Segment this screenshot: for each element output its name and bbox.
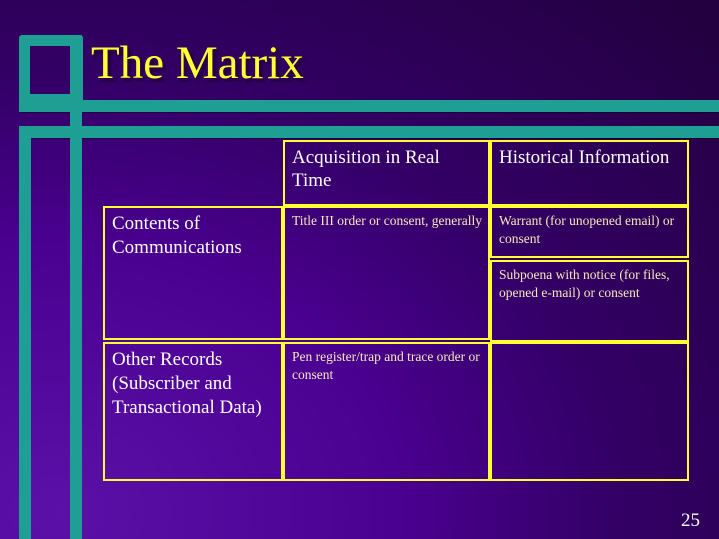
data-cell-contents-historical-b: Subpoena with notice (for files, opened … — [490, 260, 689, 342]
cell-text-warrant: Warrant (for unopened email) or consent — [490, 206, 689, 258]
data-cell-contents-historical-a: Warrant (for unopened email) or consent — [490, 206, 689, 260]
header-realtime-label: Acquisition in Real Time — [283, 140, 490, 206]
header-historical-label: Historical Information — [490, 140, 689, 206]
teal-vertical-bar-left — [19, 126, 31, 539]
page-number: 25 — [681, 510, 700, 532]
header-cell-realtime: Acquisition in Real Time — [283, 140, 490, 206]
slide-title: The Matrix — [91, 40, 304, 87]
data-cell-contents-realtime: Title III order or consent, generally — [283, 206, 490, 342]
row-label-other-records: Other Records (Subscriber and Transactio… — [103, 342, 283, 481]
table-row: Contents of Communications Title III ord… — [103, 206, 689, 260]
row-label-cell-other-records: Other Records (Subscriber and Transactio… — [103, 342, 283, 481]
data-cell-other-realtime: Pen register/trap and trace order or con… — [283, 342, 490, 481]
cell-text-other-historical-empty — [490, 342, 689, 481]
cell-text-pen-register: Pen register/trap and trace order or con… — [283, 342, 490, 481]
cell-text-subpoena: Subpoena with notice (for files, opened … — [490, 260, 689, 342]
row-label-cell-contents: Contents of Communications — [103, 206, 283, 342]
matrix-table: Acquisition in Real Time Historical Info… — [103, 140, 689, 481]
cell-text-title-iii: Title III order or consent, generally — [283, 206, 490, 340]
teal-horizontal-bar-top — [19, 100, 719, 112]
row-label-contents: Contents of Communications — [103, 206, 283, 340]
data-cell-other-historical — [490, 342, 689, 481]
header-cell-empty — [103, 140, 283, 206]
table-header-row: Acquisition in Real Time Historical Info… — [103, 140, 689, 206]
teal-horizontal-bar-bottom — [19, 126, 719, 138]
teal-vertical-bar-inner — [70, 35, 82, 539]
table-row: Other Records (Subscriber and Transactio… — [103, 342, 689, 481]
presentation-slide: The Matrix Acquisition in Real Time Hist… — [0, 0, 719, 539]
header-cell-historical: Historical Information — [490, 140, 689, 206]
